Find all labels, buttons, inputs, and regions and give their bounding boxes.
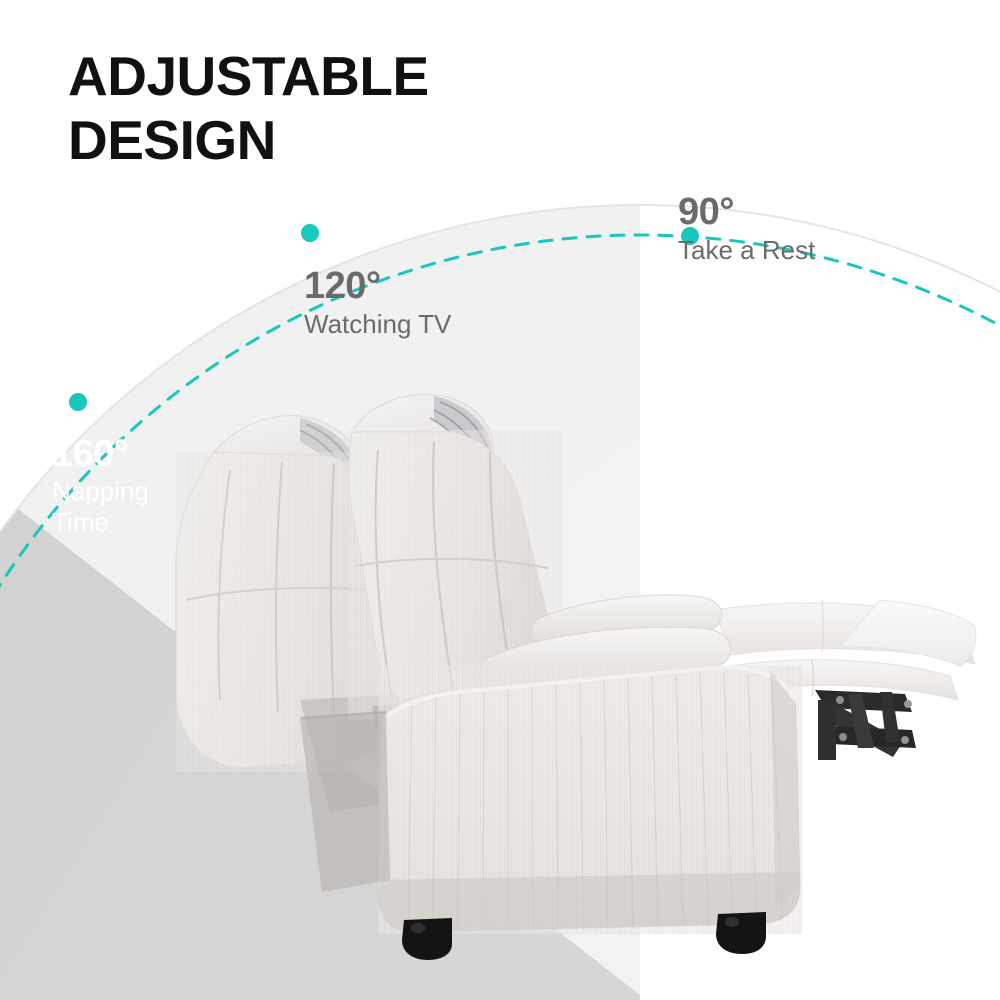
callout-120-caption: Watching TV [304, 309, 451, 339]
callout-160-caption-line-1: Napping [52, 477, 149, 505]
chair-foot-front [402, 918, 452, 960]
mechanism-pivot-1 [836, 696, 844, 704]
recline-mechanism [815, 690, 916, 760]
mechanism-pivot-4 [901, 736, 909, 744]
callout-90: 90° Take a Rest [678, 192, 815, 265]
mechanism-pivot-2 [904, 700, 912, 708]
mechanism-bracket-left [818, 700, 836, 760]
chair-foot-rear [716, 912, 766, 954]
chair-foot-rear-gloss [725, 917, 739, 927]
callout-160-angle: 160° [52, 434, 149, 474]
page-title: ADJUSTABLE DESIGN [68, 44, 429, 172]
headline-line-2: DESIGN [68, 108, 429, 172]
headline-line-1: ADJUSTABLE [68, 45, 429, 107]
callout-160-caption-line-2: Time [52, 508, 149, 536]
seat-base [378, 666, 802, 934]
callout-160: 160° Napping Time [52, 434, 149, 536]
callout-120: 120° Watching TV [304, 266, 451, 339]
callout-90-caption: Take a Rest [678, 235, 815, 265]
callout-90-angle: 90° [678, 192, 815, 232]
chair-foot-front-gloss [411, 923, 425, 933]
chair-side-panel [300, 712, 390, 892]
callout-120-angle: 120° [304, 266, 451, 306]
mechanism-pivot-3 [839, 733, 847, 741]
infographic-canvas: ADJUSTABLE DESIGN 90° Take a Rest 120° W… [0, 0, 1000, 1000]
